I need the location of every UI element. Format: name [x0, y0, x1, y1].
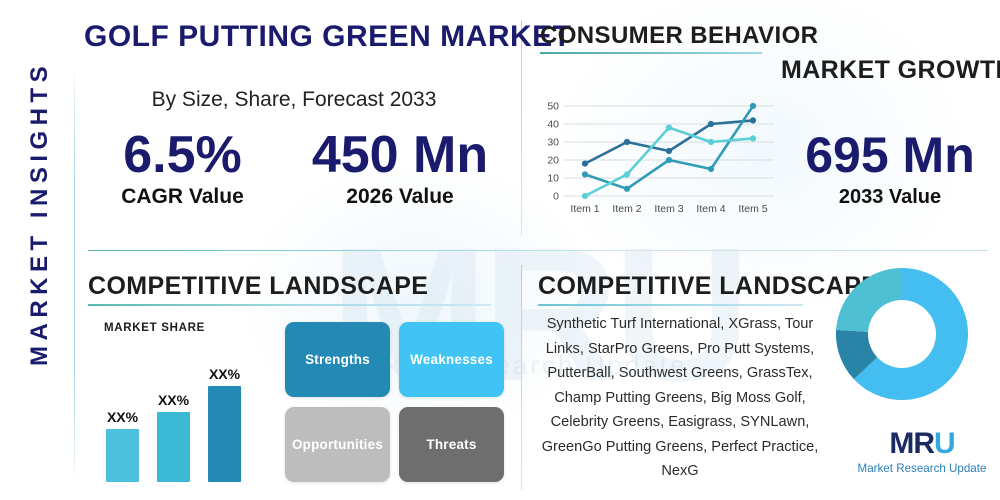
swot-opportunities[interactable]: Opportunities [285, 407, 390, 482]
swot-matrix: Strengths Weaknesses Opportunities Threa… [285, 322, 507, 487]
market-share-bar [157, 412, 190, 482]
line-chart-y-axis-labels: 01020304050 [547, 101, 559, 203]
market-share-bar [208, 386, 241, 482]
market-share-title: MARKET SHARE [104, 322, 205, 334]
svg-text:Item 1: Item 1 [570, 203, 599, 215]
svg-text:30: 30 [547, 137, 559, 149]
logo-letter-u: U [934, 427, 955, 460]
kpi-2033: 695 Mn 2033 Value [790, 126, 990, 210]
kpi-2026-value: 450 Mn [300, 126, 500, 184]
kpi-cagr-label: CAGR Value [95, 184, 270, 210]
side-label-market-insights: MARKET INSIGHTS [26, 66, 66, 366]
kpi-2026: 450 Mn 2026 Value [300, 126, 500, 210]
svg-text:40: 40 [547, 119, 559, 131]
market-share-bar [106, 429, 139, 482]
side-divider [74, 75, 75, 475]
svg-text:Item 3: Item 3 [654, 203, 683, 215]
donut-slices [836, 268, 968, 400]
line-chart-series [582, 103, 756, 199]
kpi-cagr-value: 6.5% [95, 126, 270, 184]
logo-letter-m: M [889, 427, 913, 460]
section-heading-consumer-behavior: CONSUMER BEHAVIOR [540, 22, 818, 50]
competitor-company-list: Synthetic Turf International, XGrass, To… [535, 312, 825, 472]
section-underline-competitive-landscape-right [538, 304, 803, 306]
svg-text:10: 10 [547, 173, 559, 185]
kpi-2033-value: 695 Mn [790, 126, 990, 184]
market-share-bar-label: XX% [200, 366, 249, 382]
mru-logo: MRU Market Research Update [856, 428, 988, 484]
section-heading-market-growth: MARKET GROWTH [781, 56, 1000, 85]
consumer-behavior-line-chart: 01020304050 Item 1Item 2Item 3Item 4Item… [528, 98, 778, 220]
svg-text:50: 50 [547, 101, 559, 113]
logo-letter-r: R [913, 427, 934, 460]
market-share-bar-chart: MARKET SHARE XX%XX%XX% [96, 322, 276, 487]
swot-strengths[interactable]: Strengths [285, 322, 390, 397]
page-title: GOLF PUTTING GREEN MARKET [84, 20, 504, 56]
market-share-bar-label: XX% [98, 409, 147, 425]
line-chart-x-axis-labels: Item 1Item 2Item 3Item 4Item 5 [570, 203, 767, 215]
section-heading-competitive-landscape-right: COMPETITIVE LANDSCAPE [538, 272, 878, 301]
vertical-divider-bottom [521, 265, 522, 490]
infographic-canvas: MRU Market Research Update MARKET INSIGH… [0, 0, 1000, 500]
section-underline-consumer-behavior [540, 52, 762, 54]
logo-tagline: Market Research Update [856, 461, 988, 477]
svg-text:20: 20 [547, 155, 559, 167]
svg-text:Item 5: Item 5 [738, 203, 767, 215]
swot-threats[interactable]: Threats [399, 407, 504, 482]
svg-text:Item 2: Item 2 [612, 203, 641, 215]
svg-text:0: 0 [553, 191, 559, 203]
svg-text:Item 4: Item 4 [696, 203, 725, 215]
section-underline-competitive-landscape-left [88, 304, 491, 306]
horizontal-divider [88, 250, 988, 251]
market-split-donut-chart [836, 268, 968, 400]
logo-wordmark: MRU [889, 428, 954, 460]
kpi-cagr: 6.5% CAGR Value [95, 126, 270, 210]
kpi-2026-label: 2026 Value [300, 184, 500, 210]
page-subtitle: By Size, Share, Forecast 2033 [84, 88, 504, 116]
kpi-2033-label: 2033 Value [790, 184, 990, 210]
section-heading-competitive-landscape-left: COMPETITIVE LANDSCAPE [88, 272, 428, 301]
swot-weaknesses[interactable]: Weaknesses [399, 322, 504, 397]
market-share-bar-label: XX% [149, 392, 198, 408]
